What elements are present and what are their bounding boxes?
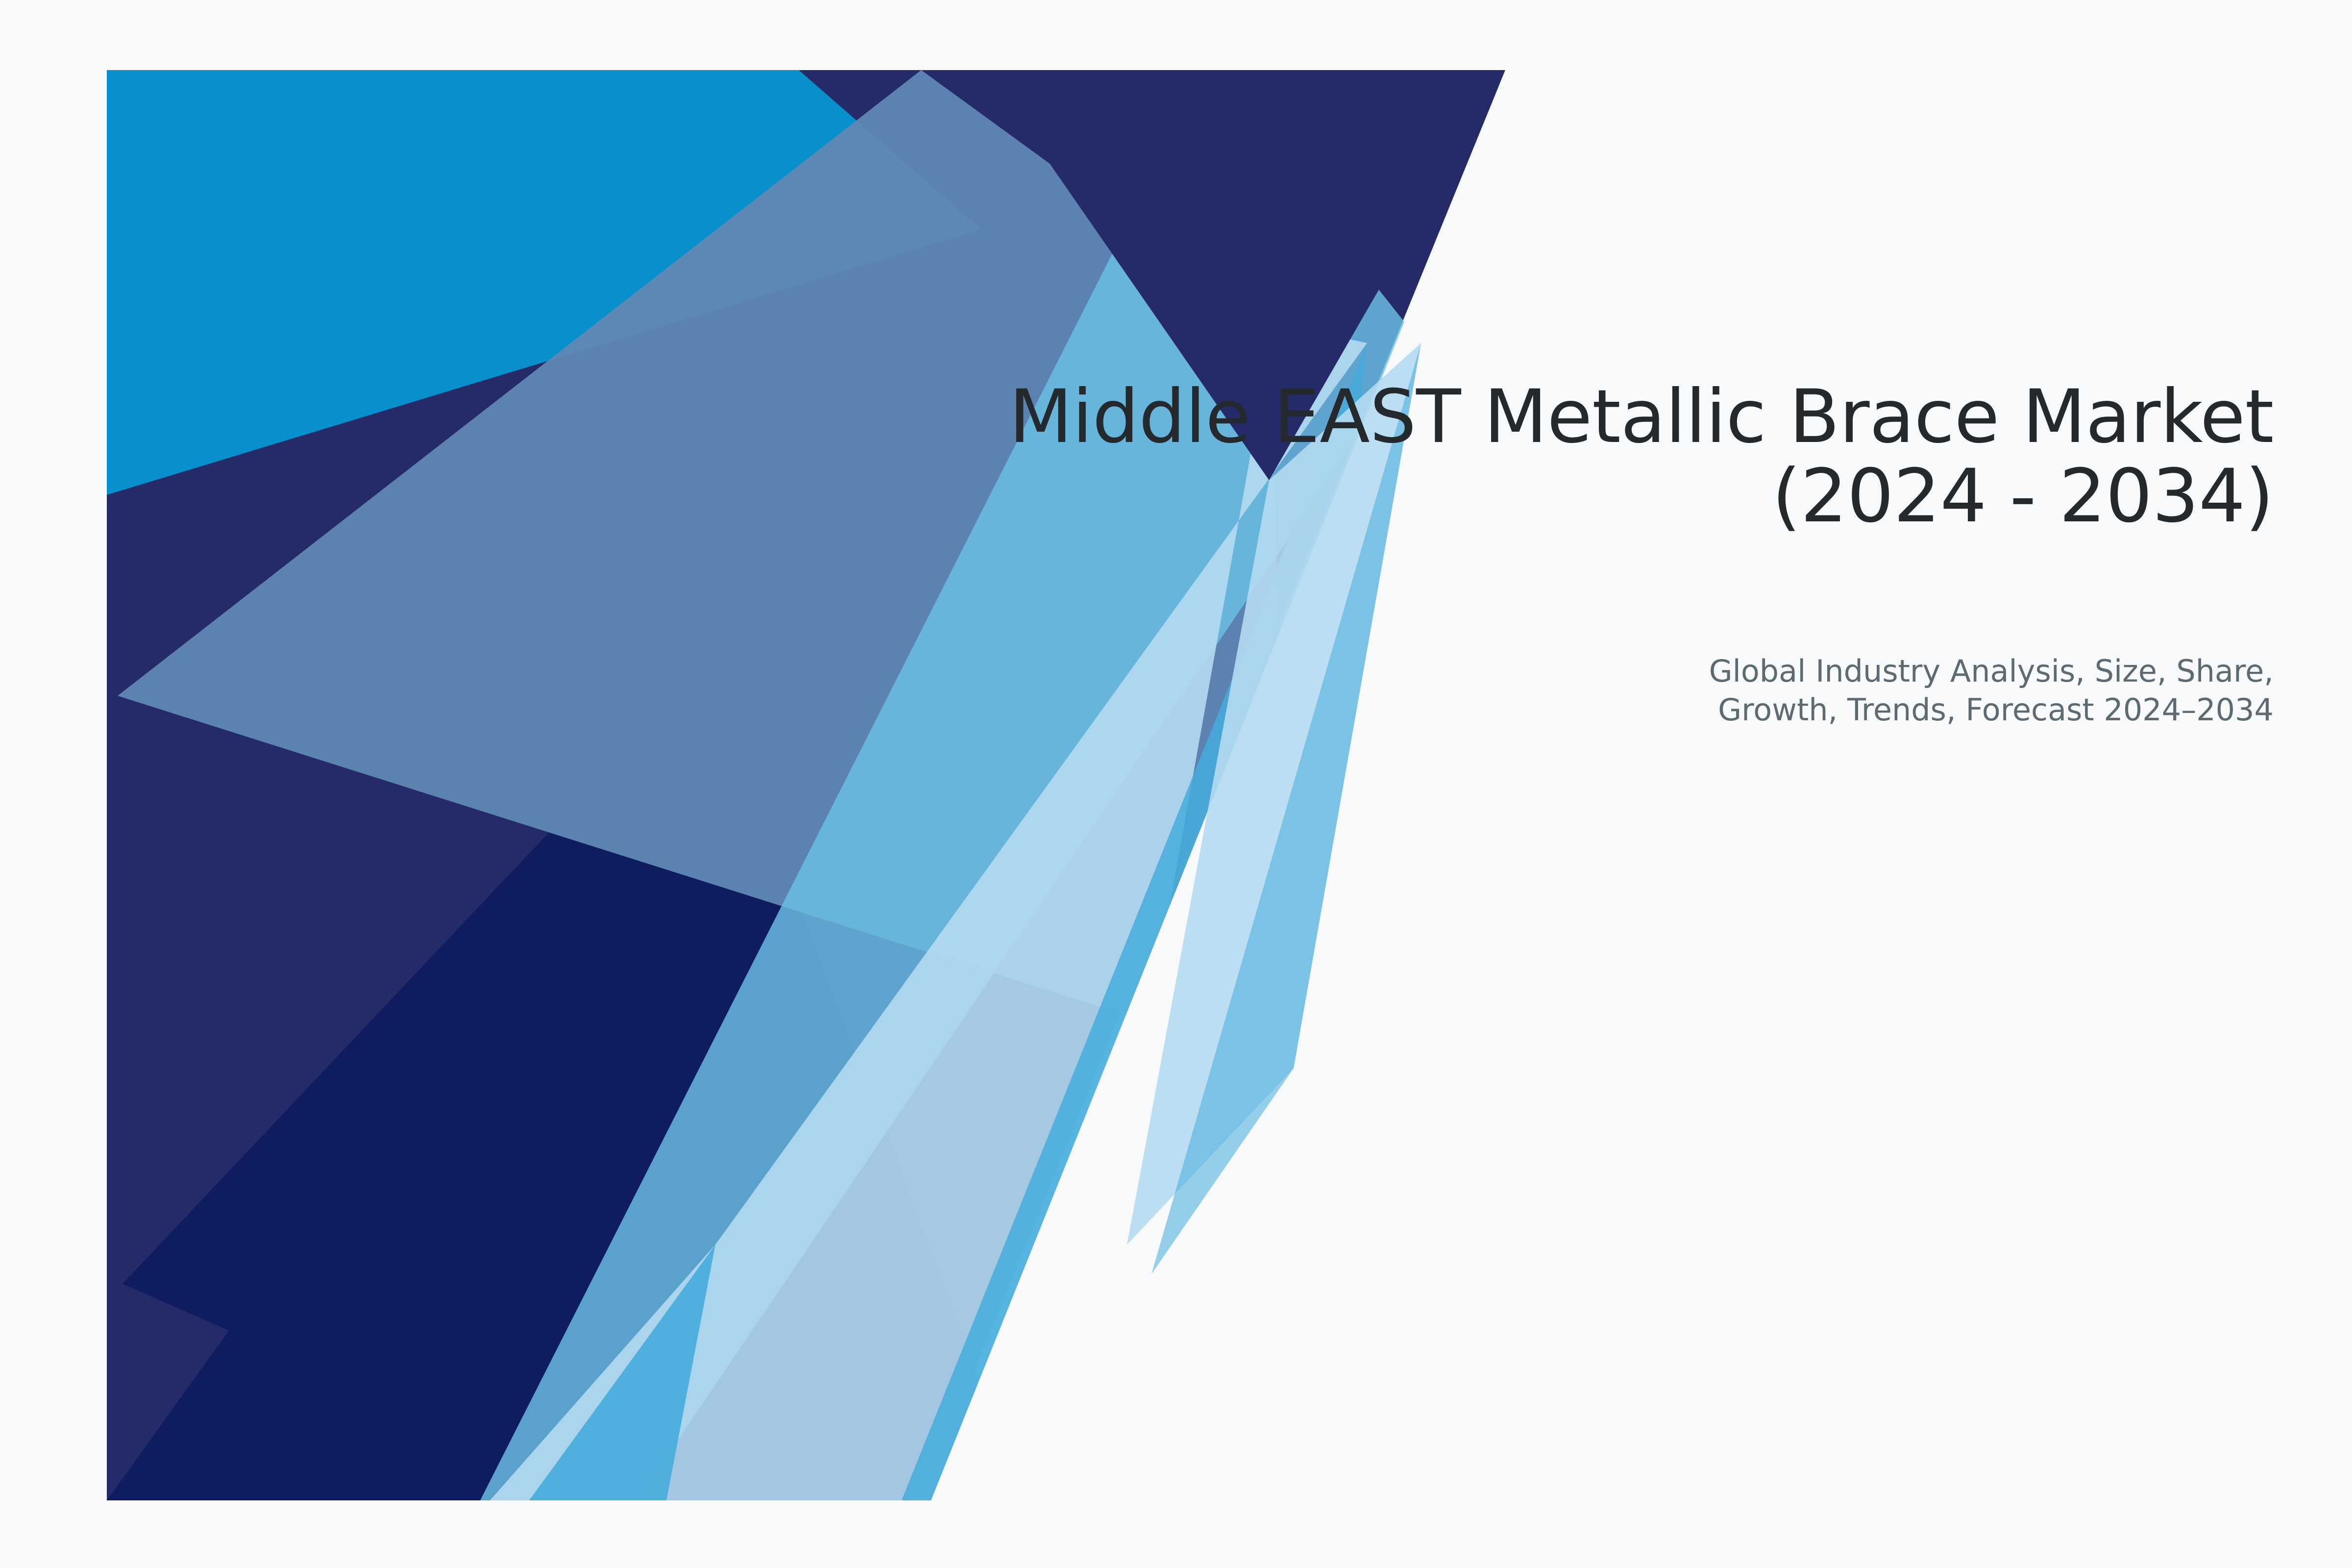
panel-left-clip <box>0 0 107 1568</box>
abstract-geometric-artwork <box>0 0 2352 1568</box>
panel-bottom-clip <box>0 1500 2352 1568</box>
report-cover-page: Middle EAST Metallic Brace Market (2024 … <box>0 0 2352 1568</box>
panel-top-clip <box>0 0 2352 70</box>
